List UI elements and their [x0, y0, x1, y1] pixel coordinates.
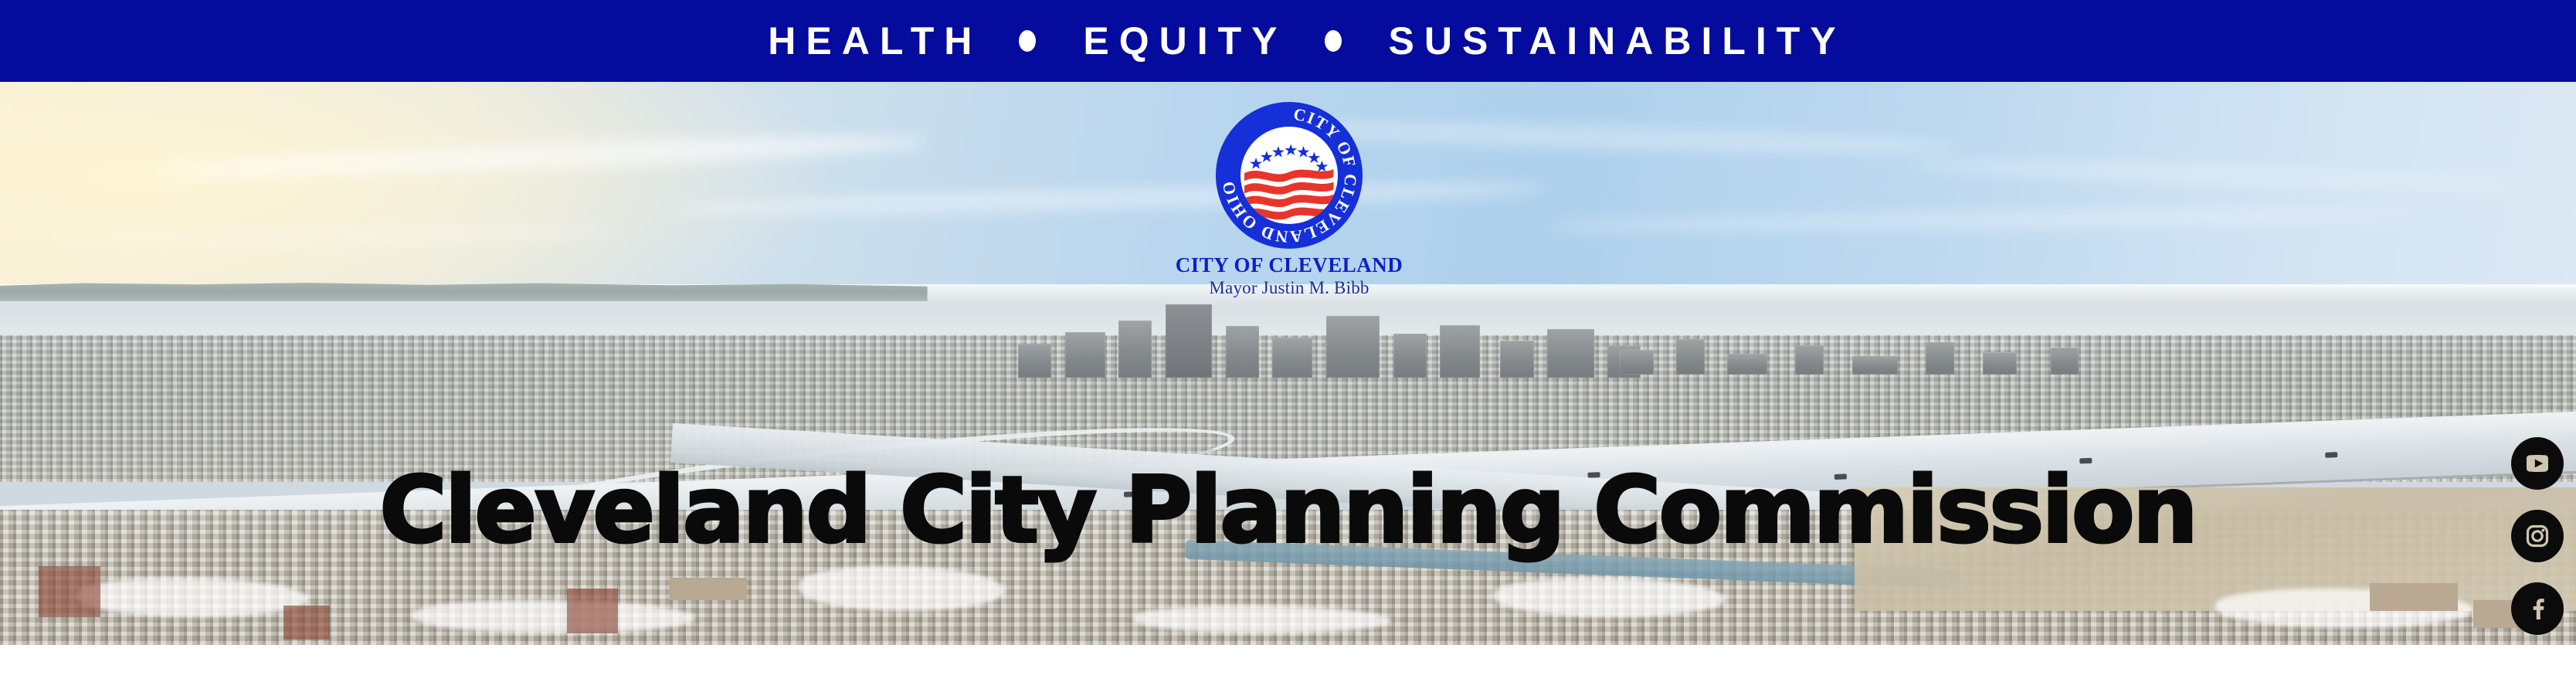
- seal-inner-field: [1240, 127, 1337, 223]
- social-link-instagram[interactable]: [2511, 510, 2564, 562]
- east-bank-buildings: [1597, 313, 2164, 375]
- social-link-youtube[interactable]: [2511, 437, 2564, 490]
- bullet-dot-icon: [1019, 30, 1036, 52]
- tagline-word-sustainability: SUSTAINABILITY: [1379, 22, 1846, 60]
- tagline-word-health: HEALTH: [758, 22, 982, 60]
- american-flag-icon: [1240, 127, 1337, 223]
- bottom-white-strip: [0, 645, 2576, 682]
- city-of-cleveland-seal-icon: CITY OF CLEVELAND OHIO: [1216, 102, 1363, 249]
- tagline-banner: HEALTH EQUITY SUSTAINABILITY: [0, 0, 2576, 82]
- social-links: [2510, 437, 2565, 635]
- youtube-icon: [2522, 448, 2553, 479]
- instagram-icon: [2522, 521, 2553, 551]
- hero-banner: Cleveland City Planning Commission: [0, 82, 2576, 645]
- mayor-name: Mayor Justin M. Bibb: [1154, 279, 1424, 297]
- city-logo-lockup: CITY OF CLEVELAND OHIO: [1154, 102, 1424, 297]
- social-link-facebook[interactable]: [2511, 582, 2564, 635]
- org-name: CITY OF CLEVELAND: [1154, 254, 1424, 276]
- industrial-yard: [1855, 487, 2576, 611]
- tagline-word-equity: EQUITY: [1073, 22, 1287, 60]
- bullet-dot-icon: [1325, 30, 1342, 52]
- tagline-inner: HEALTH EQUITY SUSTAINABILITY: [758, 22, 1845, 60]
- facebook-icon: [2522, 593, 2553, 624]
- downtown-skyline: [1005, 304, 1675, 378]
